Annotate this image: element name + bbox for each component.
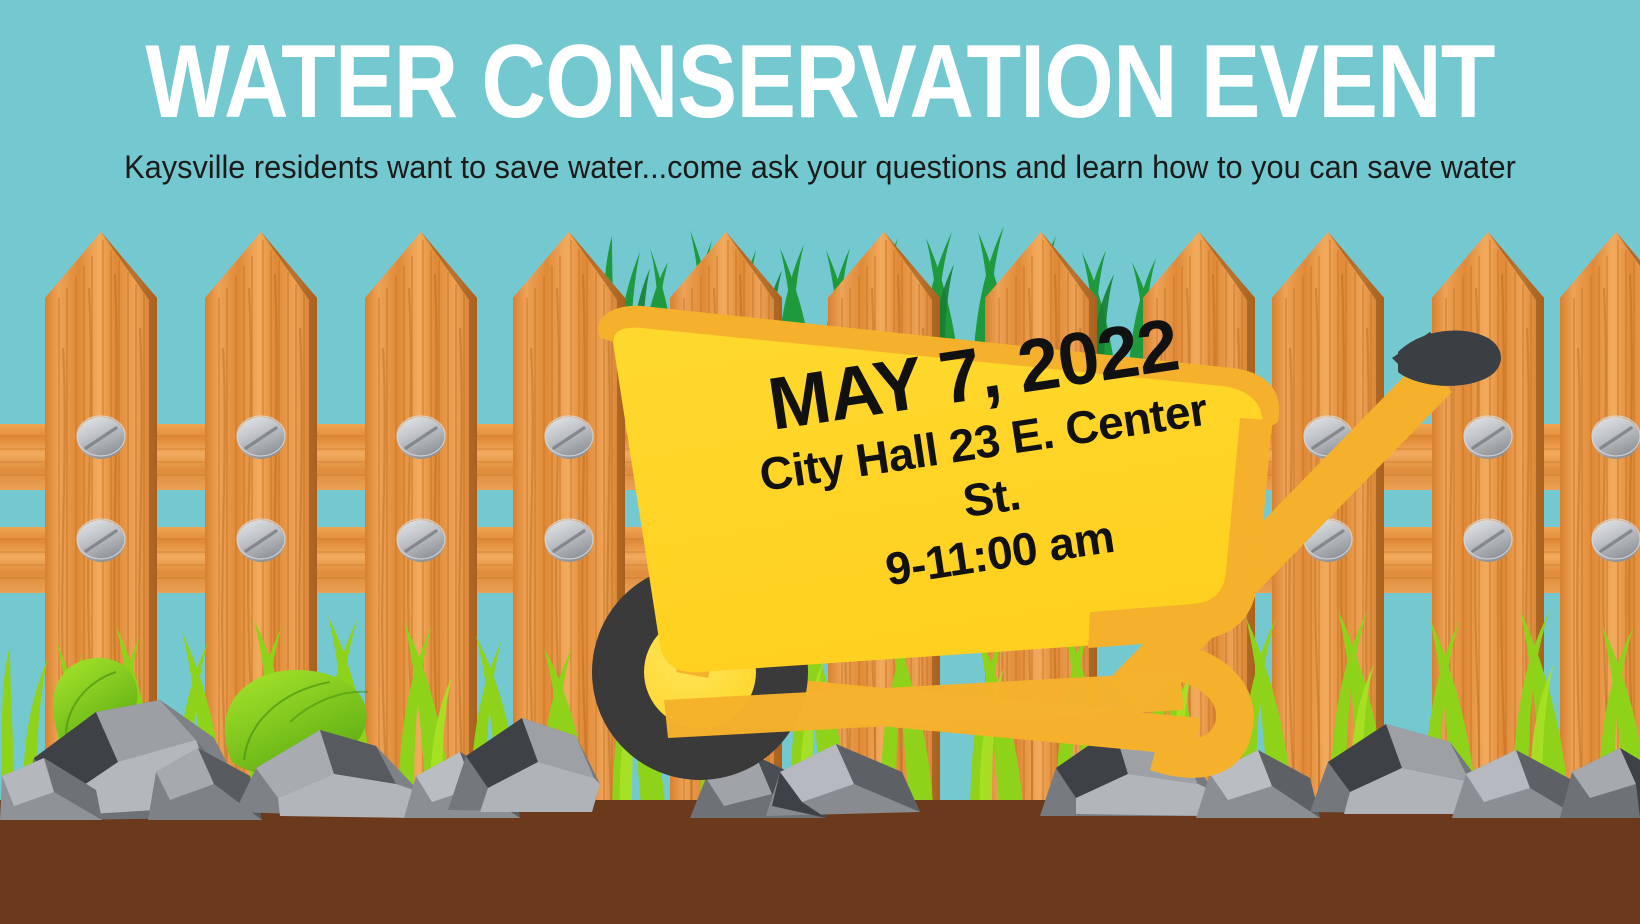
poster-canvas: WATER CONSERVATION EVENT Kaysville resid… [0,0,1640,924]
page-subtitle: Kaysville residents want to save water..… [33,148,1607,186]
page-title: WATER CONSERVATION EVENT [115,30,1525,134]
